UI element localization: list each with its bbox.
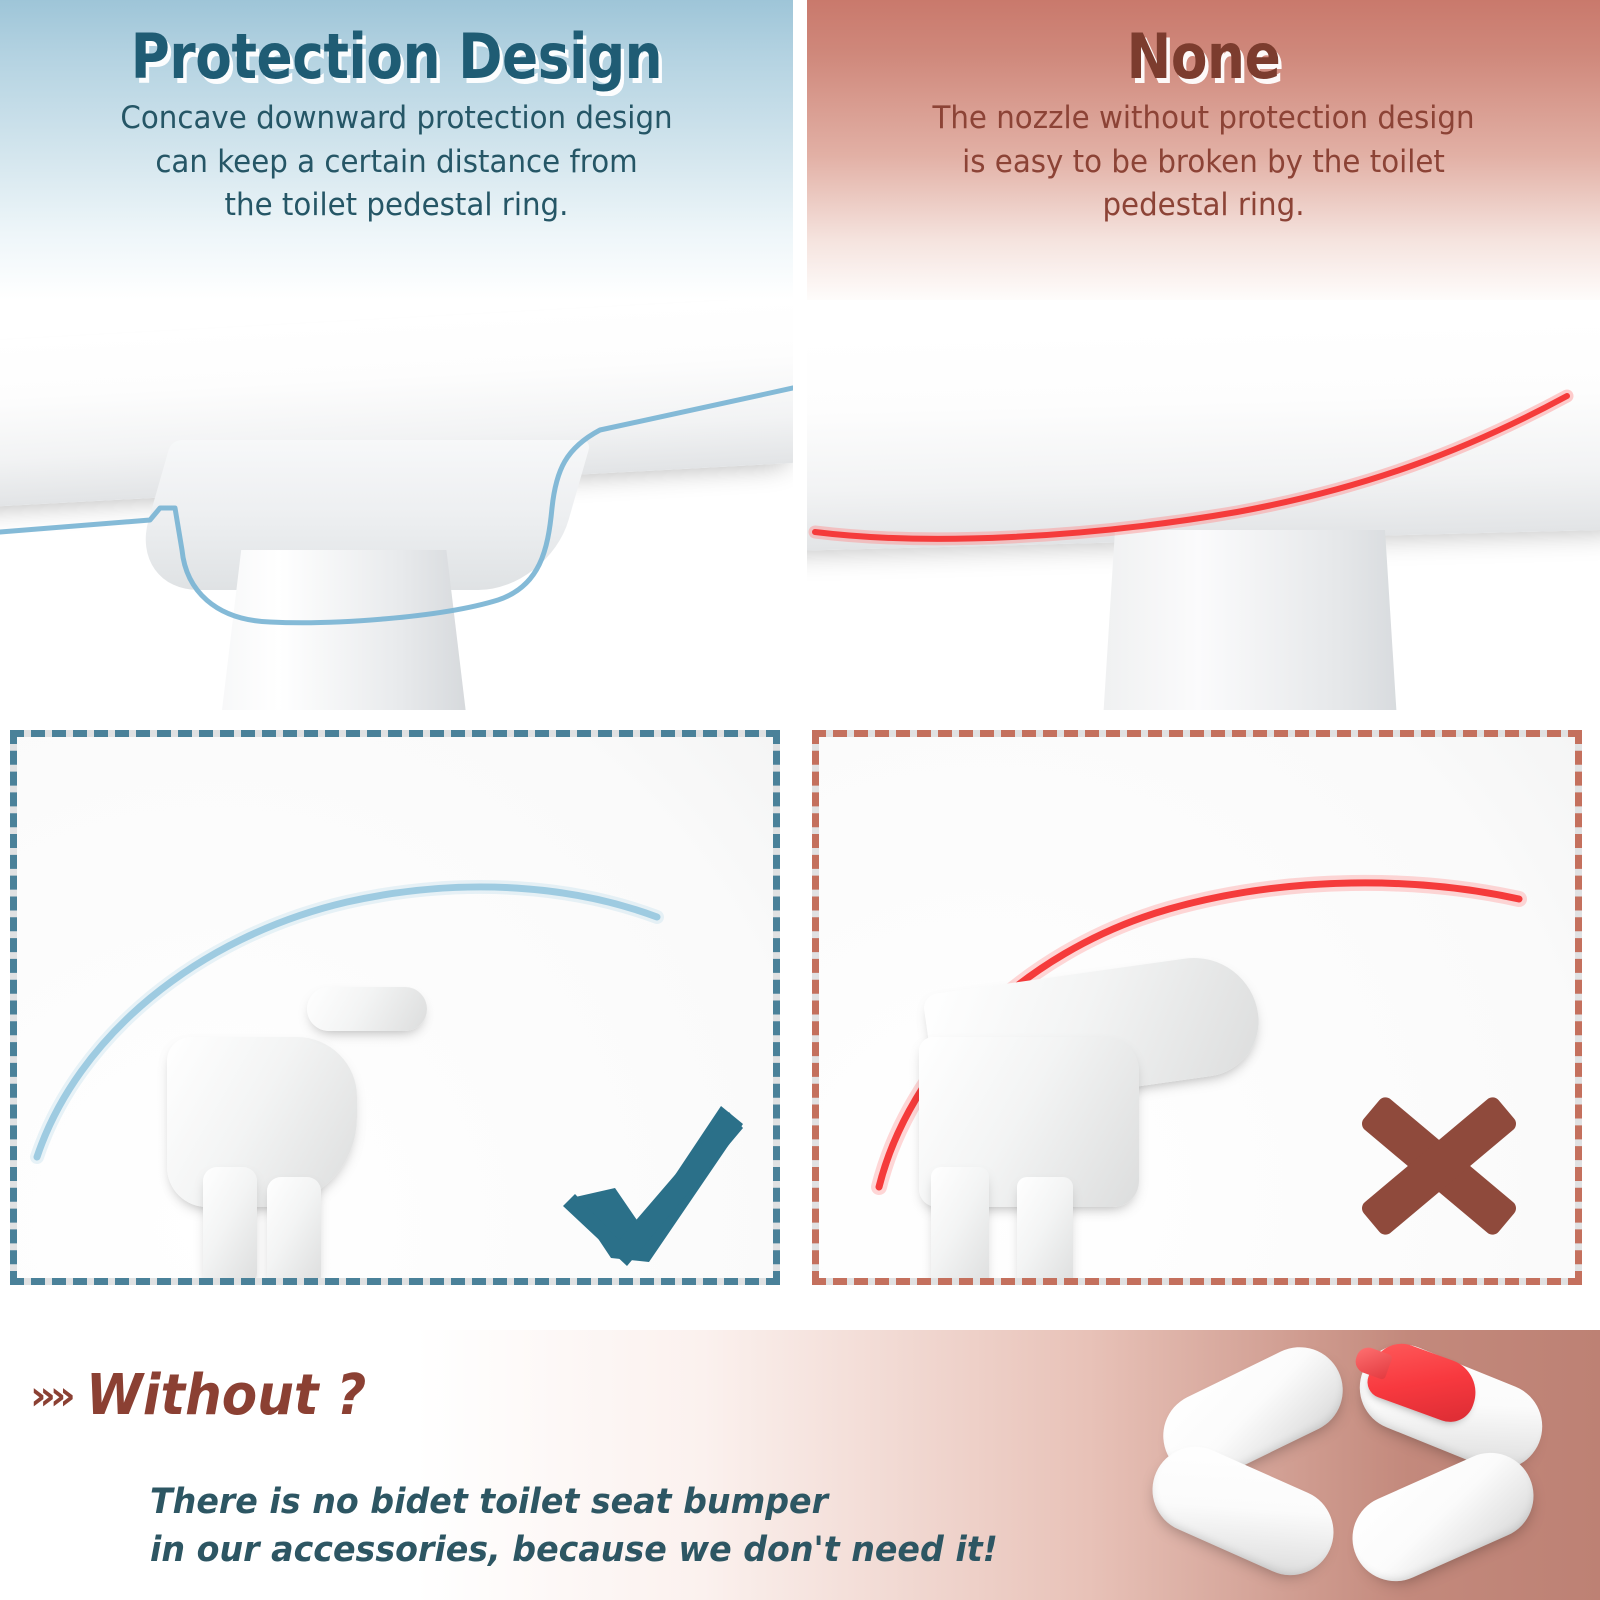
bottom-description-line2: in our accessories, because we don't nee… <box>150 1526 998 1574</box>
panel-description-left-line3: the toilet pedestal ring. <box>44 184 748 227</box>
seat-profile-photo-left <box>0 300 793 710</box>
chevron-right-icon: »» <box>30 1376 70 1416</box>
nozzle-tube-a-left <box>203 1167 257 1278</box>
bowl-scene-right <box>819 737 1575 1278</box>
panel-description-left-line1: Concave downward protection design <box>44 97 748 140</box>
seat-pedestal-left <box>198 550 468 710</box>
panel-description-right-line3: pedestal ring. <box>851 184 1555 227</box>
without-heading: Without ? <box>86 1368 366 1424</box>
bumper-pads-cluster <box>1148 1346 1578 1596</box>
cross-icon <box>1337 1076 1537 1256</box>
panel-description-right-line2: is easy to be broken by the toilet <box>851 141 1555 184</box>
bumper-pad <box>1339 1439 1548 1595</box>
bowl-closeup-photo-right <box>812 730 1582 1285</box>
nozzle-tube-a-right <box>931 1167 989 1278</box>
panel-description-right-line1: The nozzle without protection design <box>851 97 1555 140</box>
panel-description-left: Concave downward protection design can k… <box>44 97 748 227</box>
header-block-left: Protection Design Concave downward prote… <box>0 0 793 300</box>
seat-slab-right <box>807 314 1600 552</box>
panel-description-left-line2: can keep a certain distance from <box>44 141 748 184</box>
check-icon <box>553 1090 753 1270</box>
without-heading-row: »» Without ? <box>30 1368 390 1424</box>
nozzle-tube-b-right <box>1017 1177 1073 1278</box>
bottom-description-line1: There is no bidet toilet seat bumper <box>150 1478 998 1526</box>
nozzle-housing-left <box>167 1037 357 1207</box>
bottom-banner: »» Without ? There is no bidet toilet se… <box>0 1330 1600 1600</box>
bowl-scene-left <box>17 737 773 1278</box>
comparison-grid: Protection Design Concave downward prote… <box>0 0 1600 1300</box>
header-block-right: None The nozzle without protection desig… <box>807 0 1600 300</box>
seat-profile-photo-right <box>807 300 1600 710</box>
panel-title-left: Protection Design <box>71 24 722 89</box>
bottom-description: There is no bidet toilet seat bumper in … <box>150 1478 998 1575</box>
nozzle-tube-b-left <box>267 1177 321 1278</box>
comparison-column-right: None The nozzle without protection desig… <box>807 0 1600 1300</box>
comparison-column-left: Protection Design Concave downward prote… <box>0 0 793 1300</box>
panel-title-right: None <box>878 24 1529 89</box>
nozzle-cap-left <box>307 987 427 1031</box>
seat-pedestal-right <box>1097 530 1397 710</box>
bowl-closeup-photo-left <box>10 730 780 1285</box>
panel-description-right: The nozzle without protection design is … <box>851 97 1555 227</box>
product-comparison-infographic: Protection Design Concave downward prote… <box>0 0 1600 1600</box>
